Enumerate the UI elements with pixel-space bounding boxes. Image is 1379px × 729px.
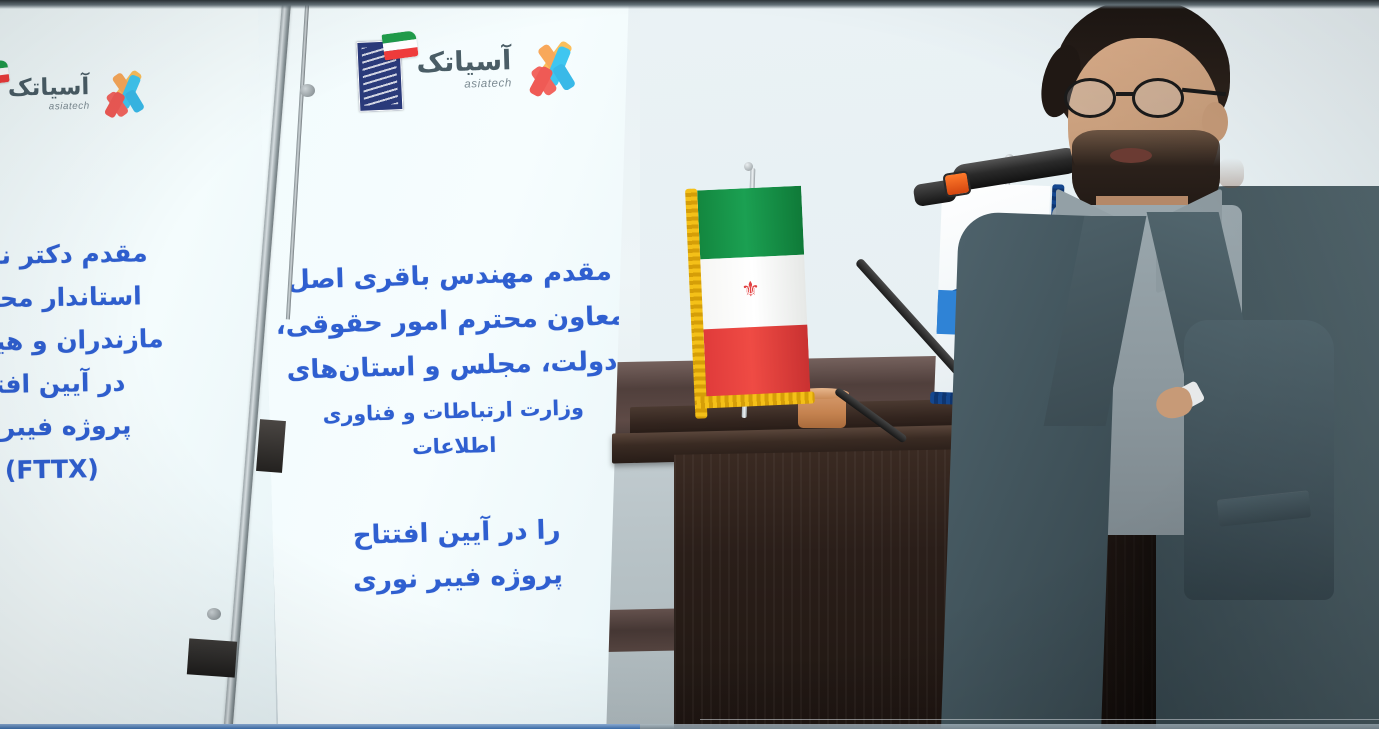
banner-left-line-1: استاندار محترم xyxy=(0,273,199,321)
speaker-nose xyxy=(1218,158,1244,188)
round-eyeglasses xyxy=(1058,78,1226,118)
banner-left-line-2: مازندران و هیئت ه xyxy=(0,316,200,364)
speaker-mouth xyxy=(1110,148,1152,163)
asiatech-x-icon xyxy=(522,35,580,99)
event-photo-frame: آسیاتک asiatech مقدم دکتر نوری استاندار … xyxy=(0,0,1379,729)
iran-flag-icon xyxy=(381,30,418,60)
banner-left-line-3: در آیین افتتا xyxy=(0,359,201,407)
iran-flag-finial xyxy=(744,162,753,171)
speaker-at-podium xyxy=(960,0,1379,729)
asiatech-brand-en: asiatech xyxy=(49,101,90,112)
banner-main-line-2: دولت، مجلس و استان‌های xyxy=(275,340,628,395)
banner-left-line-0: مقدم دکتر نوری xyxy=(0,230,198,278)
banner-stand-base xyxy=(187,638,237,677)
banner-left-line-5: (FTTX) xyxy=(0,445,202,493)
banner-stand-knob xyxy=(300,84,315,97)
asiatech-brand-fa: آسیاتک xyxy=(416,47,511,77)
asiatech-wordmark: آسیاتک asiatech xyxy=(416,47,512,92)
frame-top-bar xyxy=(0,0,1379,9)
ministry-of-ict-logo xyxy=(357,32,407,111)
asiatech-brand-fa: آسیاتک xyxy=(8,75,90,100)
banner-main-text: مقدم مهندس باقری اصل معاون محترم امور حق… xyxy=(273,249,635,606)
banner-stand-shadow xyxy=(256,419,286,473)
banner-left-text: مقدم دکتر نوری استاندار محترم مازندران و… xyxy=(0,230,202,493)
banner-stand-knob-lower xyxy=(207,608,221,620)
asiatech-x-icon xyxy=(98,66,147,120)
banner-main-line-3: وزارت ارتباطات و فناوری اطلاعات xyxy=(277,389,631,470)
banner-main: آسیاتک asiatech مقدم مهندس باقری اصل معا… xyxy=(257,0,650,729)
frame-hairline xyxy=(700,719,1379,720)
banner-left-logo-row: آسیاتک asiatech xyxy=(0,59,148,129)
frame-bottom-bar-accent xyxy=(0,724,640,729)
asiatech-wordmark: آسیاتک asiatech xyxy=(8,75,90,113)
iran-desk-flag: ⚜ xyxy=(687,179,821,414)
banner-left-line-4: پروژه فیبر ن xyxy=(0,402,201,450)
speaker-arm xyxy=(1184,320,1334,600)
asiatech-brand-en: asiatech xyxy=(464,77,512,90)
microphone-lower-arm xyxy=(834,387,908,444)
iran-emblem: ⚜ xyxy=(737,278,764,301)
banner-main-lower-line-1: پروژه فیبر نوری xyxy=(281,551,634,606)
banner-main-logo-row: آسیاتک asiatech xyxy=(357,27,580,111)
